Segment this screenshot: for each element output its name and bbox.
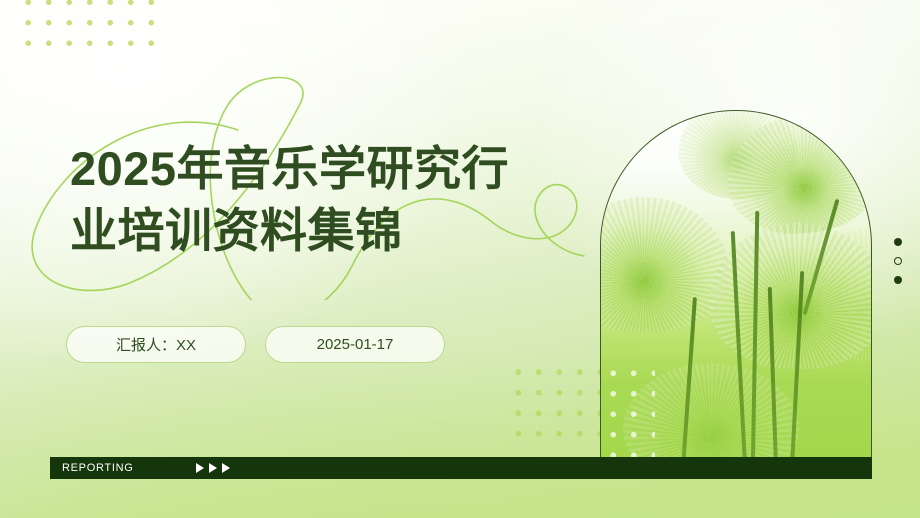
- page-title: 2025年音乐学研究行 业培训资料集锦: [70, 138, 590, 262]
- date-pill[interactable]: 2025-01-17: [265, 326, 445, 363]
- dot-grid-bottom-middle-decoration: [508, 362, 606, 448]
- side-dot-indicator-group: [894, 238, 904, 295]
- side-dot-filled-icon[interactable]: [894, 238, 902, 246]
- presenter-pill[interactable]: 汇报人：XX: [66, 326, 246, 363]
- footer-arrow-group: [196, 463, 230, 473]
- footer-bar: REPORTING: [50, 457, 872, 479]
- play-arrow-icon: [209, 463, 217, 473]
- date-label: 2025-01-17: [317, 336, 394, 353]
- arch-image-panel: [600, 110, 872, 457]
- side-dot-hollow-icon[interactable]: [894, 257, 902, 265]
- dot-grid-top-left-decoration: [18, 0, 164, 58]
- side-dot-filled-icon[interactable]: [894, 276, 902, 284]
- play-arrow-icon: [222, 463, 230, 473]
- title-line-2: 业培训资料集锦: [70, 200, 590, 262]
- presenter-label: 汇报人：XX: [116, 334, 196, 355]
- play-arrow-icon: [196, 463, 204, 473]
- presentation-slide: 2025年音乐学研究行 业培训资料集锦 汇报人：XX 2025-01-17 RE…: [0, 0, 920, 518]
- dot-grid-panel-decoration: [603, 363, 655, 457]
- meta-pill-row: 汇报人：XX 2025-01-17: [66, 326, 445, 363]
- title-line-1: 2025年音乐学研究行: [70, 138, 590, 200]
- footer-label: REPORTING: [62, 462, 134, 474]
